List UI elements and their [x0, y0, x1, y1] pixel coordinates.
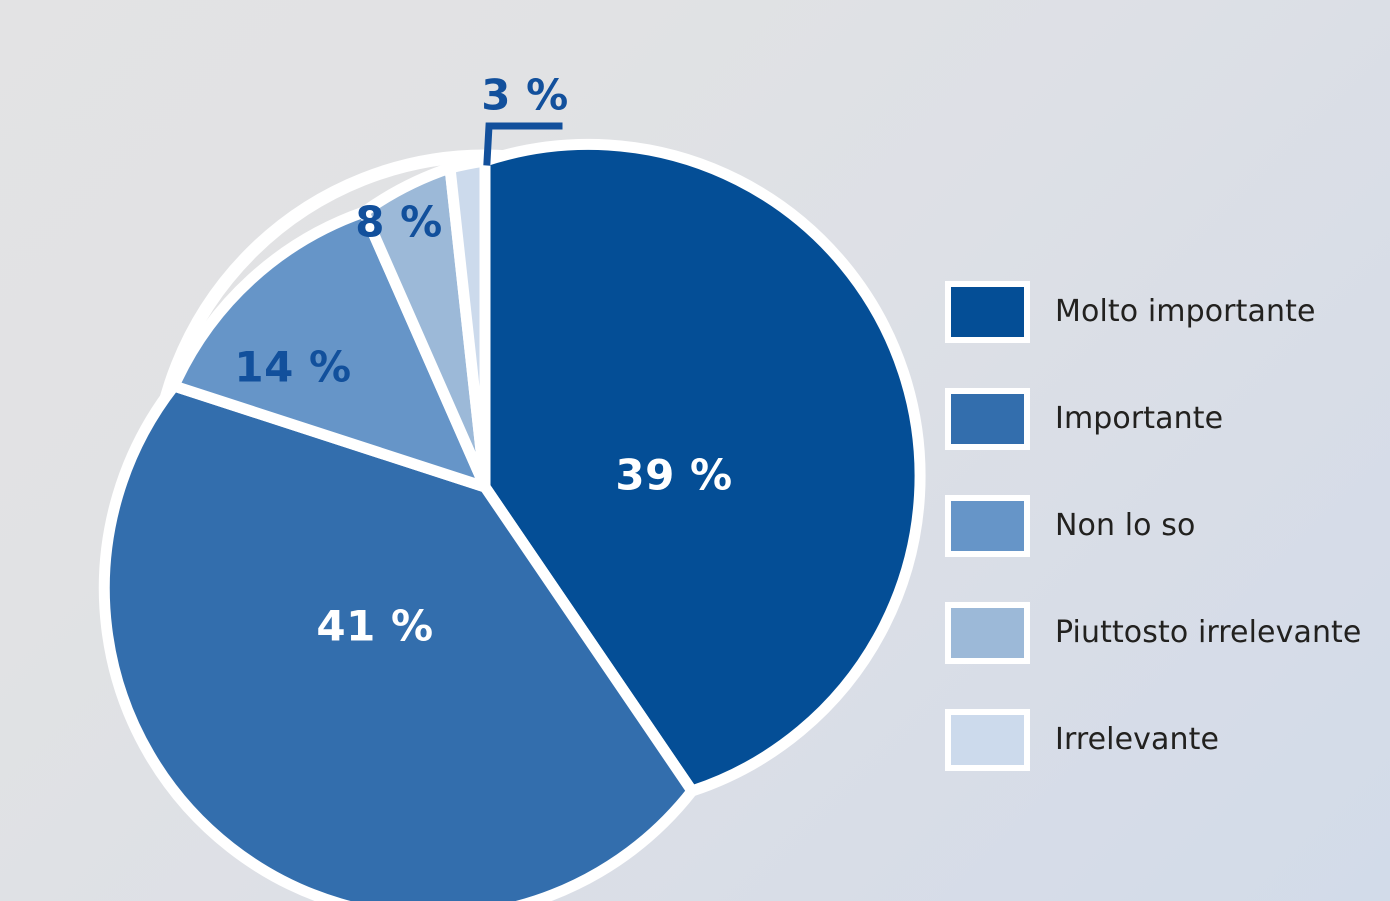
- slice-value-label-39: 39 %: [615, 451, 732, 500]
- legend-item-irrelevante[interactable]: Irrelevante: [945, 686, 1365, 793]
- legend-item-piuttosto-irrelevante[interactable]: Piuttosto irrelevante: [945, 579, 1365, 686]
- legend-swatch-frame: [945, 709, 1030, 771]
- legend-color-swatch: [951, 715, 1024, 765]
- legend-color-swatch: [951, 287, 1024, 337]
- legend-color-swatch: [951, 394, 1024, 444]
- legend-label: Piuttosto irrelevante: [1055, 615, 1361, 650]
- legend-swatch-frame: [945, 495, 1030, 557]
- legend-label: Irrelevante: [1055, 722, 1219, 757]
- slice-value-label-3: 3 %: [481, 71, 568, 120]
- legend-label: Non lo so: [1055, 508, 1195, 543]
- legend-item-importante[interactable]: Importante: [945, 365, 1365, 472]
- legend-label: Molto importante: [1055, 294, 1316, 329]
- slice-value-label-14: 14 %: [234, 343, 351, 392]
- slice-value-label-8: 8 %: [355, 198, 442, 247]
- legend-label: Importante: [1055, 401, 1223, 436]
- legend-swatch-frame: [945, 602, 1030, 664]
- legend-color-swatch: [951, 501, 1024, 551]
- chart-legend: Molto importante Importante Non lo so Pi…: [945, 258, 1365, 793]
- legend-color-swatch: [951, 608, 1024, 658]
- slice-value-label-41: 41 %: [316, 602, 433, 651]
- legend-swatch-frame: [945, 281, 1030, 343]
- chart-canvas: 39 % 41 % 14 % 8 % 3 % Molto importante …: [0, 0, 1390, 901]
- legend-item-non-lo-so[interactable]: Non lo so: [945, 472, 1365, 579]
- legend-swatch-frame: [945, 388, 1030, 450]
- legend-item-molto-importante[interactable]: Molto importante: [945, 258, 1365, 365]
